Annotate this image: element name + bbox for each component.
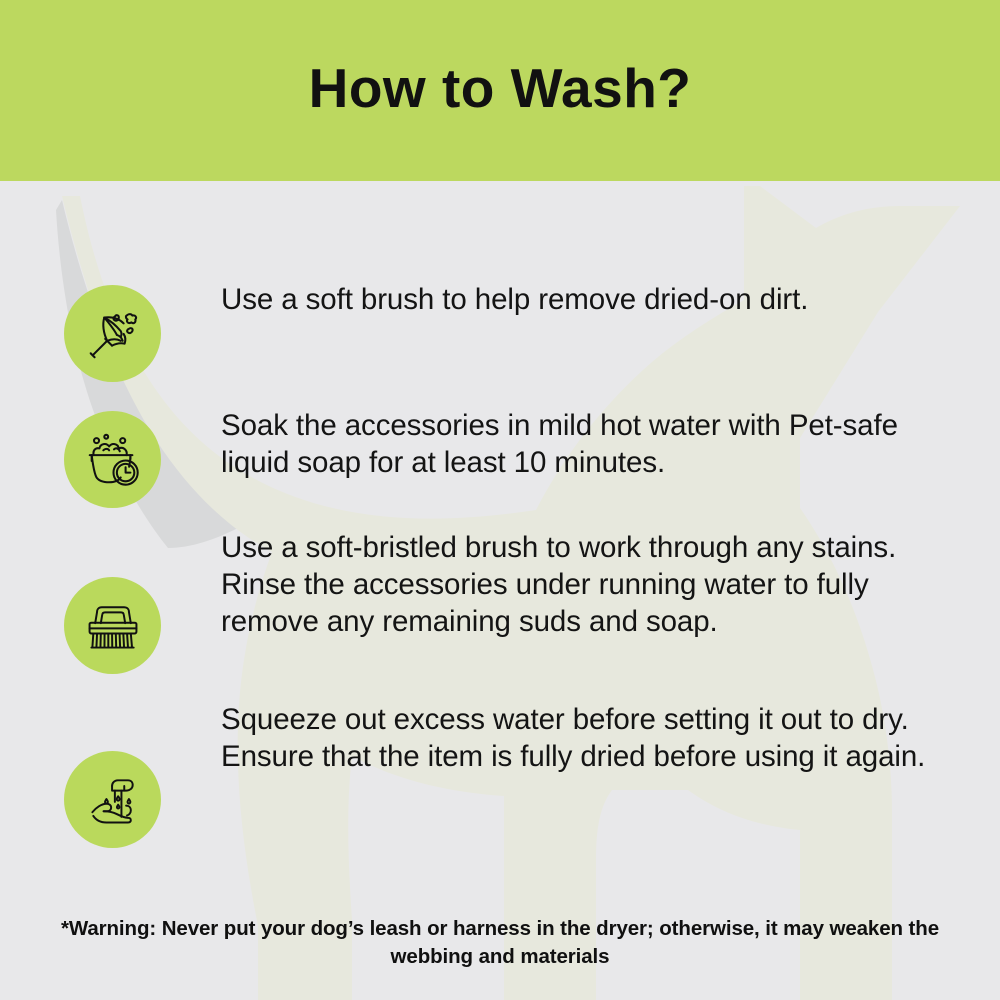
step-item-3: Use a soft-bristled brush to work throug…	[60, 529, 940, 674]
infographic-poster: How to Wash?	[0, 0, 1000, 1000]
step-2-text: Soak the accessories in mild hot water w…	[165, 407, 940, 481]
step-item-4: Squeeze out excess water before setting …	[60, 701, 940, 848]
warning-note: *Warning: Never put your dog’s leash or …	[0, 915, 1000, 971]
page-title: How to Wash?	[309, 61, 692, 120]
step-3-text: Use a soft-bristled brush to work throug…	[165, 529, 940, 640]
step-2-icon-circle	[64, 411, 161, 508]
step-1-icon-wrap	[60, 285, 165, 382]
step-item-2: Soak the accessories in mild hot water w…	[60, 407, 940, 508]
step-4-text: Squeeze out excess water before setting …	[165, 701, 940, 775]
step-1-icon-circle	[64, 285, 161, 382]
scrub-brush-icon	[83, 596, 143, 656]
step-4-icon-circle	[64, 751, 161, 848]
step-2-icon-wrap	[60, 411, 165, 508]
header-band: How to Wash?	[0, 0, 1000, 181]
hand-under-faucet-icon	[83, 770, 143, 830]
step-item-1: Use a soft brush to help remove dried-on…	[60, 281, 940, 382]
soaking-basin-clock-icon	[82, 429, 144, 491]
feather-duster-icon	[82, 303, 144, 365]
step-4-icon-wrap	[60, 751, 165, 848]
step-3-icon-circle	[64, 577, 161, 674]
step-1-text: Use a soft brush to help remove dried-on…	[165, 281, 940, 318]
step-3-icon-wrap	[60, 577, 165, 674]
